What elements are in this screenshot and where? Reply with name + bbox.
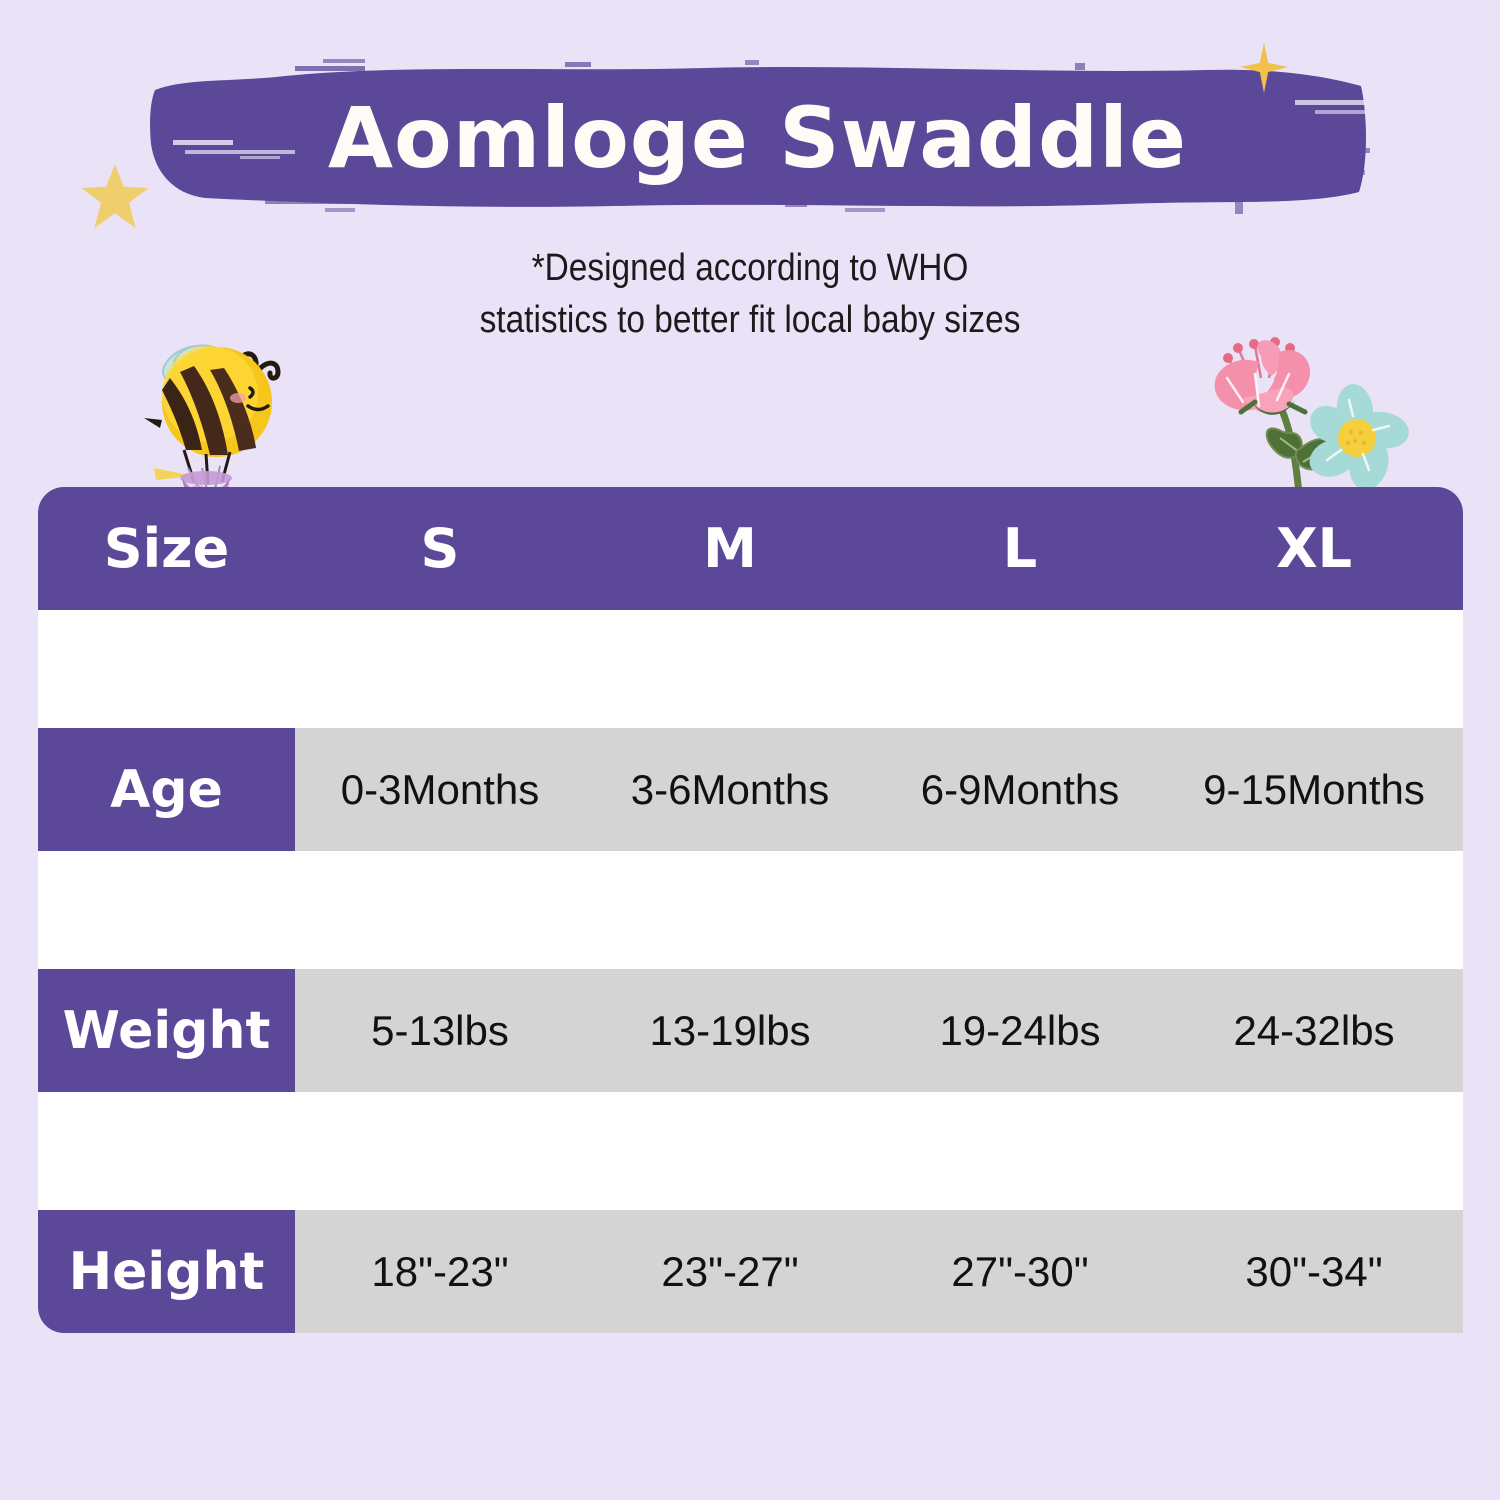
table-spacer-row [38, 610, 1463, 728]
table-spacer-row [38, 851, 1463, 969]
cell-weight-s: 5-13lbs [295, 969, 585, 1092]
table-spacer-row [38, 1092, 1463, 1210]
subtitle-line-1: *Designed according to WHO [90, 242, 1410, 294]
cell-age-s: 0-3Months [295, 728, 585, 851]
cell-weight-m: 13-19lbs [585, 969, 875, 1092]
flowers-icon [1183, 312, 1411, 498]
header-cell-xl: XL [1165, 517, 1463, 580]
cell-height-m: 23"-27" [585, 1210, 875, 1333]
row-values-weight: 5-13lbs 13-19lbs 19-24lbs 24-32lbs [295, 969, 1463, 1092]
size-chart-table: Size S M L XL Age 0-3Months 3-6Months 6-… [38, 487, 1463, 1333]
title-banner: Aomloge Swaddle [0, 0, 1500, 240]
star-icon [78, 160, 152, 234]
star-icon [1238, 42, 1290, 94]
cell-age-l: 6-9Months [875, 728, 1165, 851]
page-title: Aomloge Swaddle [145, 52, 1370, 224]
cell-height-s: 18"-23" [295, 1210, 585, 1333]
cell-weight-xl: 24-32lbs [1165, 969, 1463, 1092]
cell-weight-l: 19-24lbs [875, 969, 1165, 1092]
row-label-height: Height [38, 1210, 295, 1333]
header-cell-l: L [875, 517, 1165, 580]
row-values-height: 18"-23" 23"-27" 27"-30" 30"-34" [295, 1210, 1463, 1333]
cell-height-l: 27"-30" [875, 1210, 1165, 1333]
header-cell-s: S [295, 517, 585, 580]
row-label-age: Age [38, 728, 295, 851]
cell-age-m: 3-6Months [585, 728, 875, 851]
header-cell-size: Size [38, 517, 295, 580]
table-header-row: Size S M L XL [38, 487, 1463, 610]
row-values-age: 0-3Months 3-6Months 6-9Months 9-15Months [295, 728, 1463, 851]
header-cell-m: M [585, 517, 875, 580]
bee-icon [132, 322, 308, 510]
table-row-weight: Weight 5-13lbs 13-19lbs 19-24lbs 24-32lb… [38, 969, 1463, 1092]
cell-height-xl: 30"-34" [1165, 1210, 1463, 1333]
table-row-age: Age 0-3Months 3-6Months 6-9Months 9-15Mo… [38, 728, 1463, 851]
table-row-height: Height 18"-23" 23"-27" 27"-30" 30"-34" [38, 1210, 1463, 1333]
row-label-weight: Weight [38, 969, 295, 1092]
cell-age-xl: 9-15Months [1165, 728, 1463, 851]
